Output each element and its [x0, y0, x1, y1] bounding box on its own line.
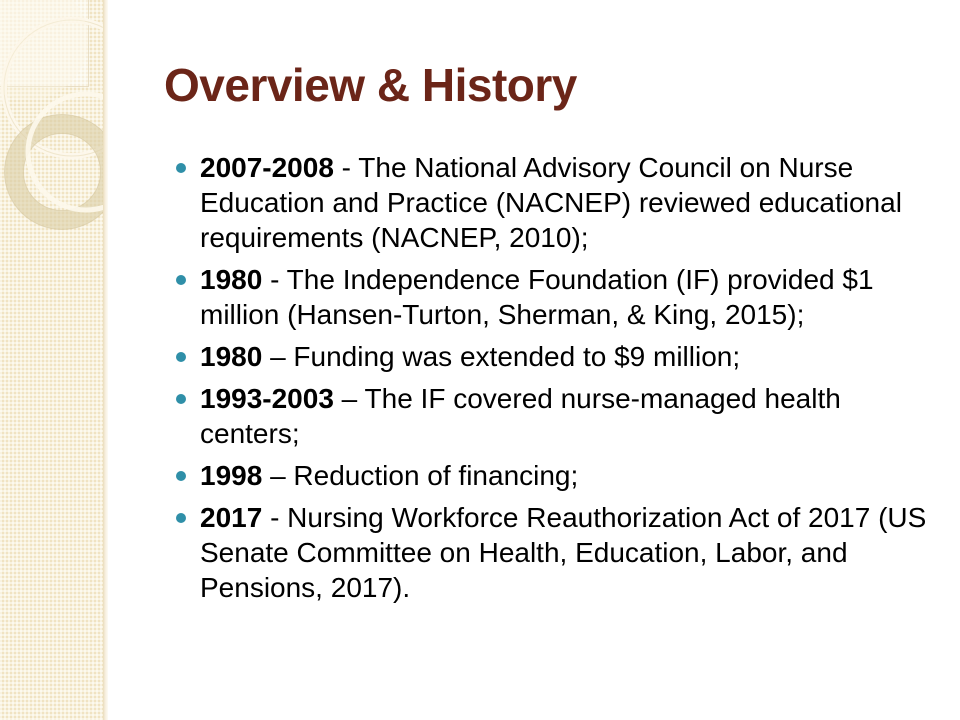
bullet-text: 1998 – Reduction of financing;	[200, 458, 930, 493]
bullet-label: 1998	[200, 460, 262, 491]
list-item: 1998 – Reduction of financing;	[170, 458, 930, 493]
list-item: 2017 - Nursing Workforce Reauthorization…	[170, 500, 930, 605]
bullet-body: - The Independence Foundation (IF) provi…	[200, 264, 874, 330]
bullet-text: 1980 – Funding was extended to $9 millio…	[200, 339, 930, 374]
list-item: 1993-2003 – The IF covered nurse-managed…	[170, 381, 930, 451]
bullet-body: – Reduction of financing;	[262, 460, 578, 491]
bullet-text: 1993-2003 – The IF covered nurse-managed…	[200, 381, 930, 451]
bullet-text: 2007-2008 - The National Advisory Counci…	[200, 150, 930, 255]
slide-title: Overview & History	[164, 58, 577, 112]
list-item: 1980 - The Independence Foundation (IF) …	[170, 262, 930, 332]
sidebar-edge	[103, 0, 108, 720]
bullet-label: 1993-2003	[200, 383, 334, 414]
list-item: 1980 – Funding was extended to $9 millio…	[170, 339, 930, 374]
bullet-body: - Nursing Workforce Reauthorization Act …	[200, 502, 926, 603]
bullet-dot-icon	[176, 471, 186, 481]
slide-canvas: Overview & History 2007-2008 - The Natio…	[0, 0, 960, 720]
bullet-text: 2017 - Nursing Workforce Reauthorization…	[200, 500, 930, 605]
bullet-dot-icon	[176, 513, 186, 523]
bullet-text: 1980 - The Independence Foundation (IF) …	[200, 262, 930, 332]
bullet-label: 1980	[200, 264, 262, 295]
bullet-label: 1980	[200, 341, 262, 372]
sidebar-rings-icon	[0, 0, 108, 720]
list-item: 2007-2008 - The National Advisory Counci…	[170, 150, 930, 255]
bullet-label: 2007-2008	[200, 152, 334, 183]
bullet-body: – Funding was extended to $9 million;	[262, 341, 740, 372]
bullet-dot-icon	[176, 352, 186, 362]
bullet-list: 2007-2008 - The National Advisory Counci…	[170, 150, 930, 612]
bullet-dot-icon	[176, 163, 186, 173]
bullet-dot-icon	[176, 275, 186, 285]
bullet-dot-icon	[176, 394, 186, 404]
bullet-label: 2017	[200, 502, 262, 533]
decorative-sidebar	[0, 0, 108, 720]
